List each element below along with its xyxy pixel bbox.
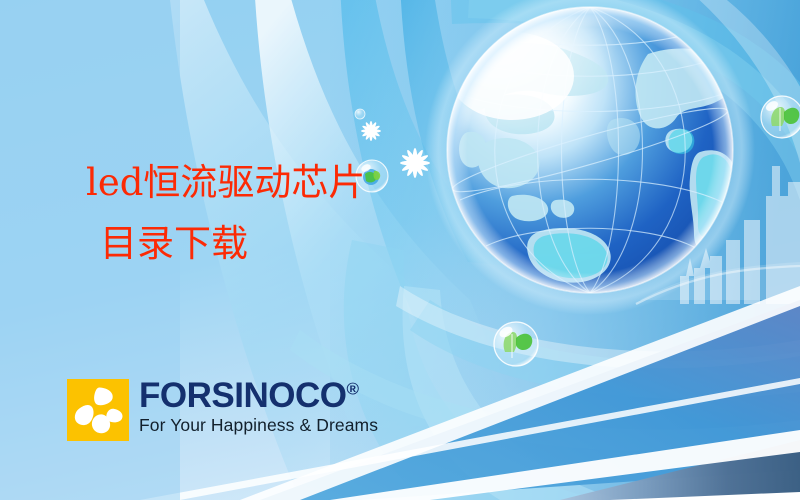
starburst-flower-2	[400, 148, 430, 178]
arc-group	[344, 0, 800, 500]
globe-halo	[425, 0, 755, 315]
earth-globe	[420, 0, 755, 315]
registered-trademark-icon: ®	[346, 379, 358, 398]
ribbon-sweep-4	[400, 0, 528, 268]
lower-swoosh-1	[410, 300, 800, 399]
bubble-leaf	[494, 322, 538, 366]
bubble-right-edge	[761, 96, 800, 138]
logo-text-block: FORSINOCO® For Your Happiness & Dreams	[139, 379, 378, 436]
arc-outer-2	[468, 0, 800, 380]
logo-wordmark-text: FORSINOCO	[139, 376, 346, 415]
corner-band-white-lower	[610, 492, 800, 500]
globe-longitude-lines	[495, 7, 686, 293]
globe-rim-light	[447, 7, 733, 293]
bubble-group	[355, 96, 800, 366]
corner-band-slate	[560, 440, 800, 500]
arc-outer-1	[450, 0, 800, 330]
forsinoco-pinwheel-mark	[67, 379, 129, 441]
arc-lower-left-2	[403, 286, 620, 500]
globe-ocean	[447, 7, 733, 293]
skyline-wave	[636, 262, 800, 304]
arc-lower-left	[344, 240, 600, 500]
corner-band-white-mid	[330, 430, 800, 500]
starburst-flower-1	[361, 121, 381, 141]
globe-specular	[450, 32, 574, 120]
ribbon-sweep-2	[340, 0, 520, 330]
globe-gloss-highlight	[420, 0, 660, 196]
logo-tagline: For Your Happiness & Dreams	[139, 415, 378, 436]
globe-outline	[447, 7, 733, 293]
globe-latitude-lines	[448, 24, 733, 248]
headline-line-2: 目录下载	[100, 225, 365, 262]
headline-line-1: led恒流驱动芯片	[86, 164, 365, 201]
bubble-tiny	[355, 109, 365, 119]
globe-landmasses	[455, 35, 749, 283]
logo-wordmark: FORSINOCO®	[139, 379, 378, 413]
lower-swoosh-2	[396, 286, 800, 368]
arc-outer-3	[676, 0, 800, 330]
city-skyline-silhouette	[680, 166, 800, 304]
headline-block: led恒流驱动芯片 目录下载	[86, 164, 365, 262]
company-logo[interactable]: FORSINOCO® For Your Happiness & Dreams	[67, 379, 378, 441]
marketing-poster: led恒流驱动芯片 目录下载 FORSINOCO® For Your Happi…	[0, 0, 800, 500]
background-right-wash	[330, 0, 800, 500]
globe-land-accents	[534, 129, 732, 278]
starburst-group	[361, 121, 430, 178]
